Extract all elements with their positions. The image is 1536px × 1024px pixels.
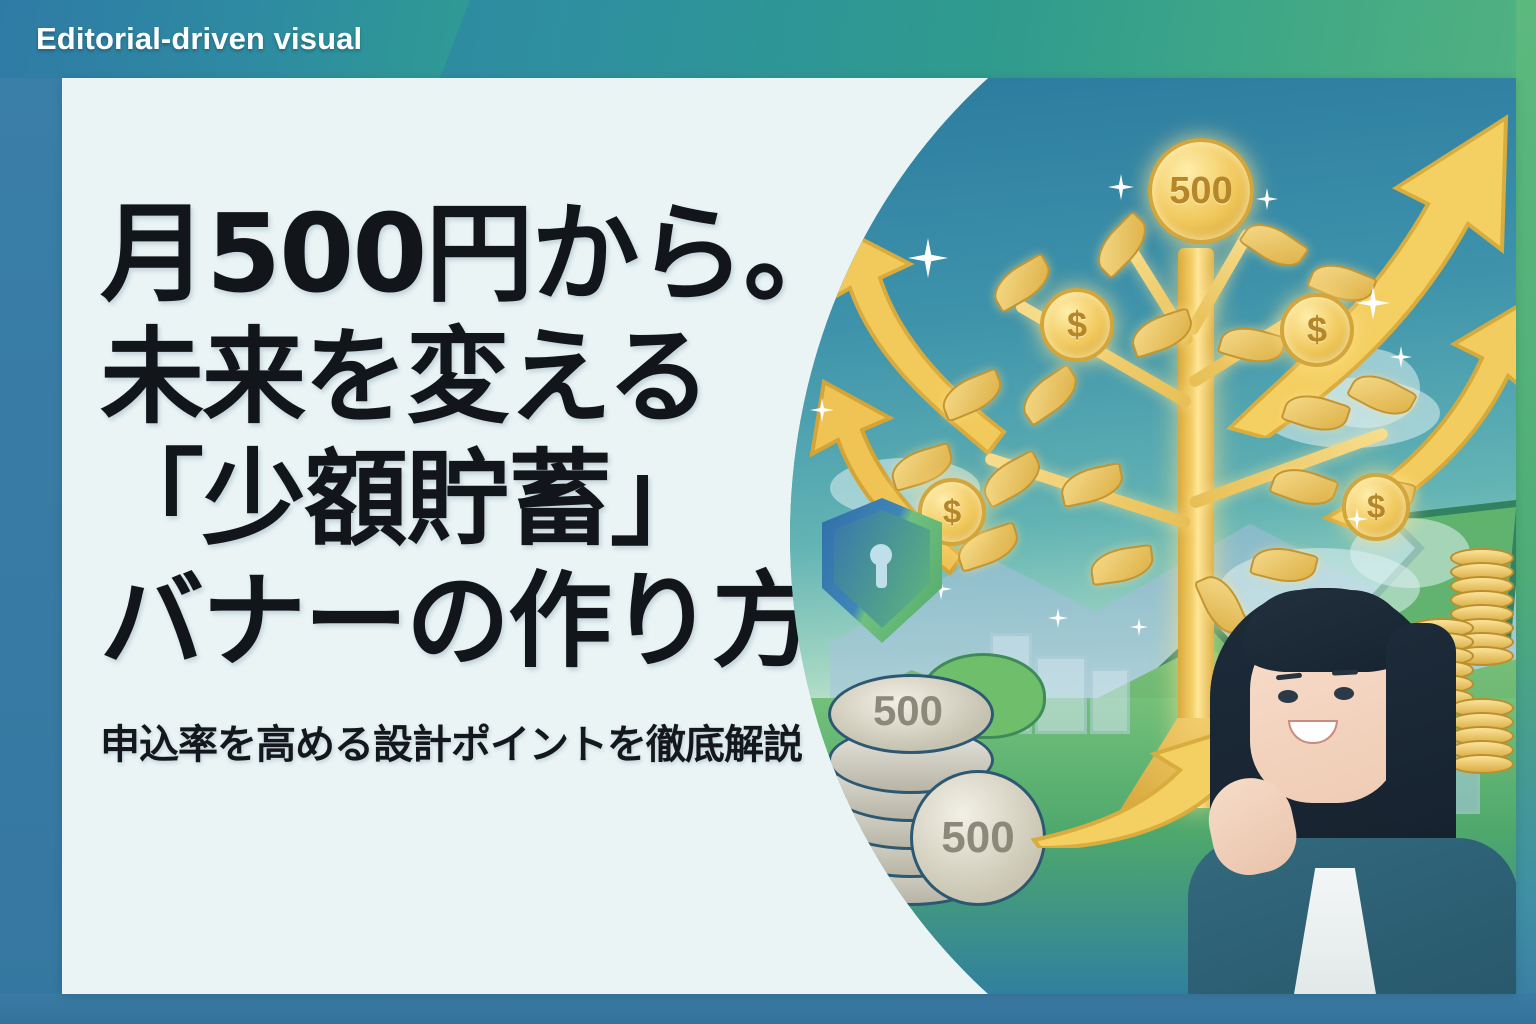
- coin-500-icon: 500: [1148, 138, 1254, 244]
- header-label: Editorial-driven visual: [36, 21, 362, 57]
- illustration-panel: 500 $ $ $ $: [790, 78, 1516, 994]
- title-line-1: 月500円から。: [100, 194, 860, 316]
- woman-hair-fringe: [1242, 590, 1410, 672]
- header-tab: Editorial-driven visual: [0, 0, 470, 78]
- banner-root: Editorial-driven visual 月500円から。 未来を変える …: [0, 0, 1536, 1024]
- dollar-coin-icon: $: [1342, 473, 1410, 541]
- woman-eye: [1278, 690, 1298, 703]
- text-column: 月500円から。 未来を変える 「少額貯蓄」 バナーの作り方 申込率を高める設計…: [100, 194, 860, 770]
- frame-edge-right: [1516, 0, 1536, 1024]
- subtitle: 申込率を高める設計ポイントを徹底解説: [100, 712, 860, 770]
- title-line-3: 「少額貯蓄」: [100, 438, 860, 560]
- yen-coin-face-icon: 500: [910, 770, 1046, 906]
- keyhole-stem: [876, 562, 887, 588]
- content-card: 月500円から。 未来を変える 「少額貯蓄」 バナーの作り方 申込率を高める設計…: [62, 78, 1516, 994]
- title-line-2: 未来を変える: [100, 316, 860, 438]
- frame-edge-left: [0, 78, 62, 1024]
- frame-edge-bottom: [0, 994, 1536, 1024]
- yen-coin-top-label: 500: [828, 674, 988, 748]
- title-line-4: バナーの作り方: [100, 560, 860, 682]
- woman-eye: [1334, 687, 1354, 700]
- dollar-coin-icon: $: [1040, 288, 1114, 362]
- dollar-coin-icon: $: [1280, 293, 1354, 367]
